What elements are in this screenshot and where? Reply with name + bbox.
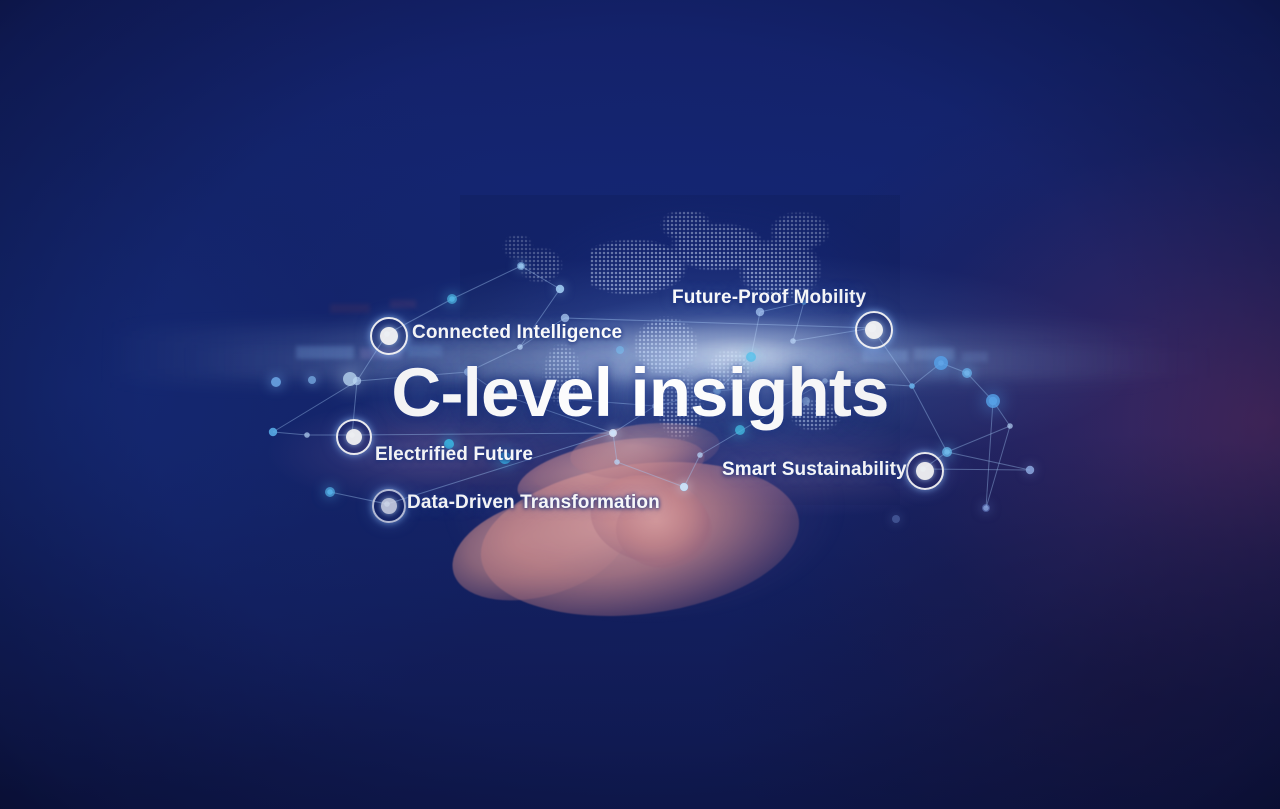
- node-marker-electrified-future[interactable]: [336, 419, 372, 455]
- network-node-dot: [614, 459, 620, 465]
- glow-dot: [325, 487, 335, 497]
- node-label-future-proof-mobility[interactable]: Future-Proof Mobility: [672, 287, 866, 309]
- node-marker-connected-intelligence[interactable]: [370, 317, 408, 355]
- node-label-connected-intelligence[interactable]: Connected Intelligence: [412, 322, 622, 344]
- network-edge: [352, 433, 613, 435]
- node-marker-smart-sustainability[interactable]: [906, 452, 944, 490]
- network-node-dot: [697, 452, 703, 458]
- hero-banner: C-level insights Connected IntelligenceF…: [0, 0, 1280, 809]
- page-title: C-level insights: [0, 358, 1280, 427]
- network-node-dot: [304, 432, 310, 438]
- node-label-electrified-future[interactable]: Electrified Future: [375, 444, 533, 466]
- glow-dot: [1026, 466, 1034, 474]
- network-edge: [986, 426, 1010, 508]
- glow-dot: [616, 346, 624, 354]
- node-marker-data-driven-transformation[interactable]: [372, 489, 406, 523]
- network-edge: [273, 432, 307, 435]
- glow-dot: [556, 285, 564, 293]
- node-marker-future-proof-mobility[interactable]: [855, 311, 893, 349]
- network-node-dot: [269, 428, 277, 436]
- glow-dot: [447, 294, 457, 304]
- network-node-dot: [517, 344, 523, 350]
- glow-dot: [892, 515, 900, 523]
- network-edge: [684, 455, 700, 487]
- network-node-dot: [756, 308, 764, 316]
- network-edge: [521, 266, 560, 289]
- node-label-data-driven-transformation[interactable]: Data-Driven Transformation: [407, 492, 660, 514]
- network-node-dot: [790, 338, 796, 344]
- network-edge: [751, 312, 760, 357]
- network-edge: [947, 426, 1010, 452]
- network-edge: [452, 266, 521, 299]
- network-edge: [613, 433, 617, 462]
- glow-dot: [982, 504, 990, 512]
- node-label-smart-sustainability[interactable]: Smart Sustainability: [722, 459, 907, 481]
- glow-dot: [942, 447, 952, 457]
- network-edge: [617, 462, 684, 487]
- glow-dot: [680, 483, 688, 491]
- glow-dot: [517, 262, 525, 270]
- network-node-dot: [561, 314, 569, 322]
